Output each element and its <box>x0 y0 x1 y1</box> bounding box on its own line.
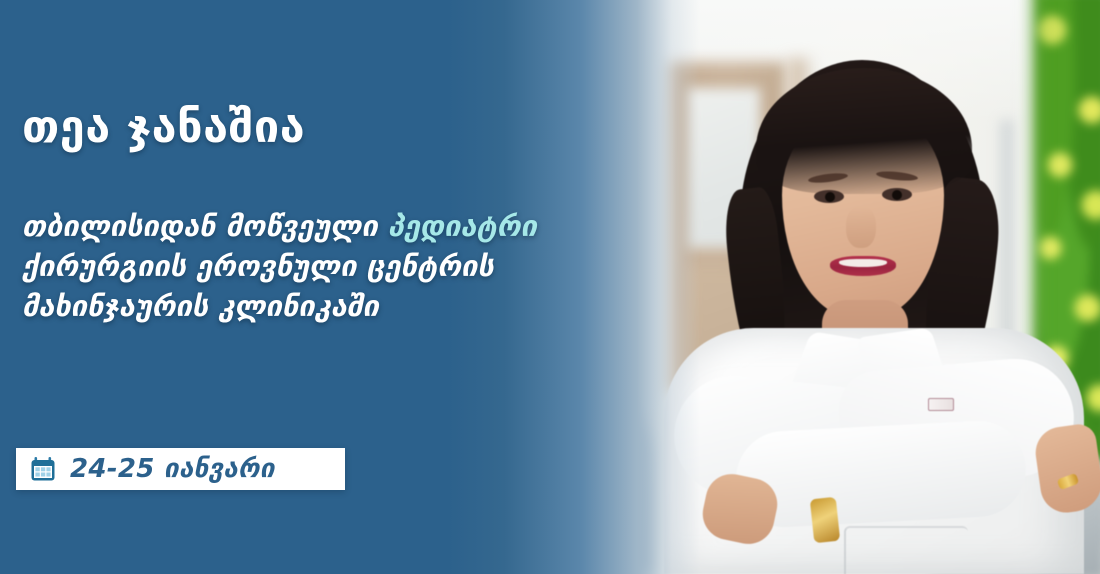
pupil-left <box>825 192 835 202</box>
description-text-1: თბილისიდან მოწვეული <box>22 209 388 243</box>
doctor-name: თეა ჯანაშია <box>22 100 305 153</box>
banner-content: თეა ჯანაშია თბილისიდან მოწვეული პედიატრი… <box>0 0 640 574</box>
description-line-1: თბილისიდან მოწვეული პედიატრი <box>22 206 622 246</box>
pupil-right <box>892 190 902 200</box>
nose <box>846 206 876 248</box>
calendar-icon <box>30 456 56 482</box>
doctor-description: თბილისიდან მოწვეული პედიატრი ქირურგიის ე… <box>22 206 622 326</box>
date-badge-text: 24-25 იანვარი <box>70 454 275 484</box>
description-text-2: ქირურგიის ეროვნული ცენტრის <box>22 249 494 283</box>
gold-watch <box>810 497 840 543</box>
crossed-forearms <box>734 418 1029 529</box>
promo-banner: თეა ჯანაშია თბილისიდან მოწვეული პედიატრი… <box>0 0 1100 574</box>
coat-pocket <box>844 526 968 574</box>
date-badge[interactable]: 24-25 იანვარი <box>16 448 345 490</box>
description-highlight-pediatrician: პედიატრი <box>388 209 537 243</box>
description-text-3: მახინჯაურის კლინიკაში <box>22 289 379 323</box>
description-line-2: ქირურგიის ეროვნული ცენტრის <box>22 246 622 286</box>
teeth <box>839 259 887 267</box>
description-line-3: მახინჯაურის კლინიკაში <box>22 286 622 326</box>
doctor-figure <box>640 28 1100 574</box>
hair-front <box>756 68 972 194</box>
coat-badge-chip <box>928 398 954 411</box>
